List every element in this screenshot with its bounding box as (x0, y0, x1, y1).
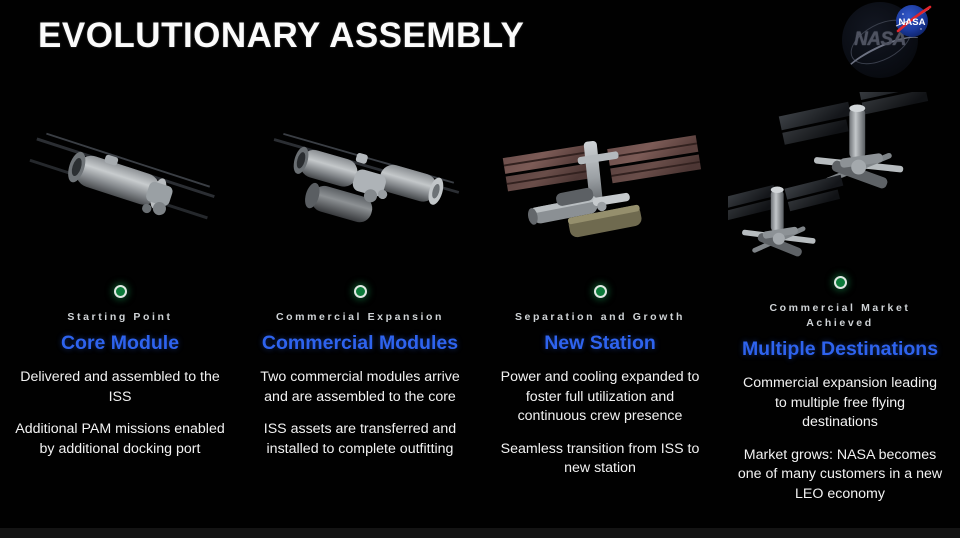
phase-paragraph: Commercial expansion leading to multiple… (738, 374, 943, 433)
phase-marker-dot (594, 285, 607, 298)
phase-marker-dot-wrap (354, 278, 367, 304)
phase-column-multiple-destinations: Commercial Market Achieved Multiple Dest… (720, 92, 960, 504)
phase-marker-dot (114, 285, 127, 298)
phase-marker-dot (834, 276, 847, 289)
phase-column-core-module: Starting Point Core Module Delivered and… (0, 92, 240, 504)
page-title: EVOLUTIONARY ASSEMBLY (38, 16, 524, 56)
commercial-modules-spacecraft (248, 92, 472, 278)
phase-eyebrow: Commercial Expansion (276, 310, 444, 325)
nasa-logo-text: NASA (899, 17, 926, 28)
phase-marker-dot-wrap (594, 278, 607, 304)
phase-marker-dot-wrap (114, 278, 127, 304)
bottom-strip (0, 528, 960, 538)
phase-eyebrow: Commercial Market Achieved (769, 301, 910, 331)
phase-paragraph: Seamless transition from ISS to new stat… (493, 440, 708, 479)
core-module-spacecraft (8, 92, 232, 278)
phase-heading: Multiple Destinations (742, 338, 938, 361)
phase-heading: New Station (544, 332, 656, 355)
phase-paragraph: ISS assets are transferred and installed… (253, 420, 468, 459)
phase-paragraph: Delivered and assembled to the ISS (13, 368, 228, 407)
nasa-logo: NASA (890, 4, 934, 38)
phase-eyebrow: Separation and Growth (515, 310, 685, 325)
phase-heading: Commercial Modules (262, 332, 458, 355)
phase-paragraph: Market grows: NASA becomes one of many c… (738, 446, 943, 505)
phase-marker-dot-wrap (834, 270, 847, 295)
phase-paragraph: Power and cooling expanded to foster ful… (493, 368, 708, 427)
phase-eyebrow: Starting Point (67, 310, 172, 325)
multiple-destinations-spacecraft (728, 92, 952, 270)
phase-marker-dot (354, 285, 367, 298)
new-station-spacecraft (488, 92, 712, 278)
phase-column-commercial-modules: Commercial Expansion Commercial Modules … (240, 92, 480, 504)
phase-heading: Core Module (61, 332, 179, 355)
presentation-slide: EVOLUTIONARY ASSEMBLY NASA NASA (0, 0, 960, 538)
phase-column-new-station: Separation and Growth New Station Power … (480, 92, 720, 504)
phase-columns: Starting Point Core Module Delivered and… (0, 92, 960, 504)
phase-paragraph: Additional PAM missions enabled by addit… (13, 420, 228, 459)
phase-paragraph: Two commercial modules arrive and are as… (253, 368, 468, 407)
